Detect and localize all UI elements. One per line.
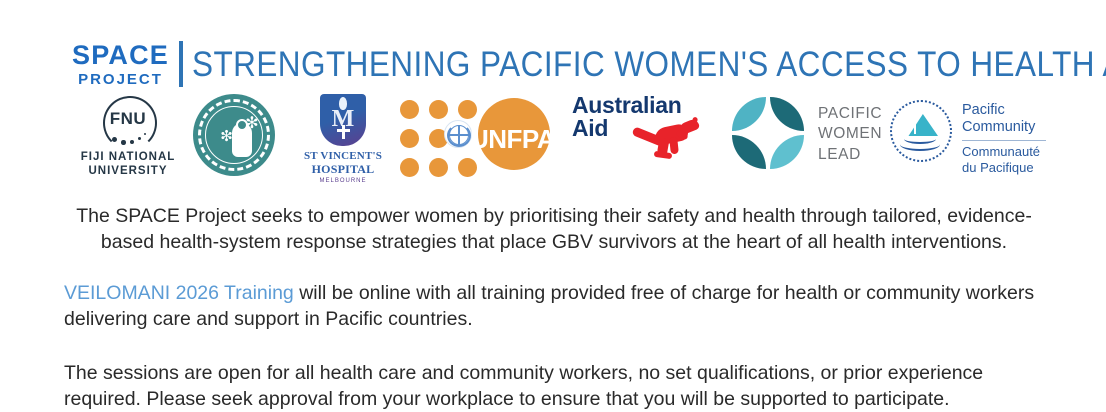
- fnu-name-line2: UNIVERSITY: [72, 164, 184, 178]
- paragraph-eligibility: The sessions are open for all health car…: [64, 361, 1044, 412]
- spc-name-en-line2: Community: [962, 119, 1046, 136]
- logo-unfpa: UNFPA: [400, 94, 560, 170]
- kangaroo-icon: [632, 120, 714, 162]
- shield-icon: M: [320, 94, 366, 146]
- pwl-name-line2: WOMEN: [818, 124, 882, 144]
- banner-header: SPACE PROJECT STRENGTHENING PACIFIC WOME…: [0, 38, 1106, 90]
- paragraph-mission: The SPACE Project seeks to empower women…: [64, 204, 1044, 255]
- spc-name-en-line1: Pacific: [962, 102, 1046, 119]
- logo-fiji-national-university: FNU FIJI NATIONAL UNIVERSITY: [72, 94, 184, 179]
- partner-logo-strip: FNU FIJI NATIONAL UNIVERSITY ✻ ❇: [0, 94, 1106, 184]
- veilomani-training-link[interactable]: VEILOMANI 2026 Training: [64, 282, 294, 304]
- promotional-banner: SPACE PROJECT STRENGTHENING PACIFIC WOME…: [0, 0, 1106, 412]
- spc-name-fr-line2: du Pacifique: [962, 160, 1046, 176]
- pinwheel-icon: [730, 94, 808, 172]
- spc-divider: [962, 140, 1046, 141]
- header-divider: [179, 41, 183, 87]
- pwl-name: PACIFIC WOMEN LEAD: [818, 104, 882, 165]
- stv-name-line3: MELBOURNE: [300, 178, 386, 184]
- canoe-sail-icon: [890, 100, 952, 162]
- stv-name-line2: HOSPITAL: [300, 162, 386, 177]
- fnu-name: FIJI NATIONAL UNIVERSITY: [72, 150, 184, 179]
- stv-name-line1: ST VINCENT'S: [300, 150, 386, 162]
- logo-st-vincents-hospital: M ST VINCENT'S HOSPITAL MELBOURNE: [300, 94, 386, 184]
- united-nations-emblem-icon: [444, 120, 472, 148]
- unfpa-wordmark: UNFPA: [470, 124, 562, 155]
- pwl-name-line3: LEAD: [818, 145, 882, 165]
- pwl-name-line1: PACIFIC: [818, 104, 882, 124]
- project-wordmark: PROJECT: [78, 72, 163, 87]
- fnu-acronym: FNU: [95, 109, 161, 129]
- logo-australian-aid: Australian Aid: [572, 94, 722, 141]
- page-title: STRENGTHENING PACIFIC WOMEN'S ACCESS TO …: [192, 47, 1106, 82]
- cross-icon: [342, 125, 345, 139]
- spc-name: Pacific Community Communauté du Pacifiqu…: [962, 102, 1046, 176]
- logo-pacific-society-reproductive-health: ✻ ❇: [186, 94, 282, 176]
- spc-name-fr-line1: Communauté: [962, 144, 1046, 160]
- space-project-logo: SPACE PROJECT: [72, 42, 169, 87]
- banner-body: The SPACE Project seeks to empower women…: [0, 204, 1106, 412]
- paragraph-training: VEILOMANI 2026 Training will be online w…: [64, 281, 1044, 332]
- ausaid-name-line1: Australian: [572, 94, 722, 117]
- flower-icon: ❇: [219, 129, 234, 144]
- psrh-seal-icon: ✻ ❇: [193, 94, 275, 176]
- space-wordmark: SPACE: [72, 42, 169, 69]
- fnu-name-line1: FIJI NATIONAL: [72, 150, 184, 164]
- fnu-ring-icon: FNU: [95, 96, 161, 146]
